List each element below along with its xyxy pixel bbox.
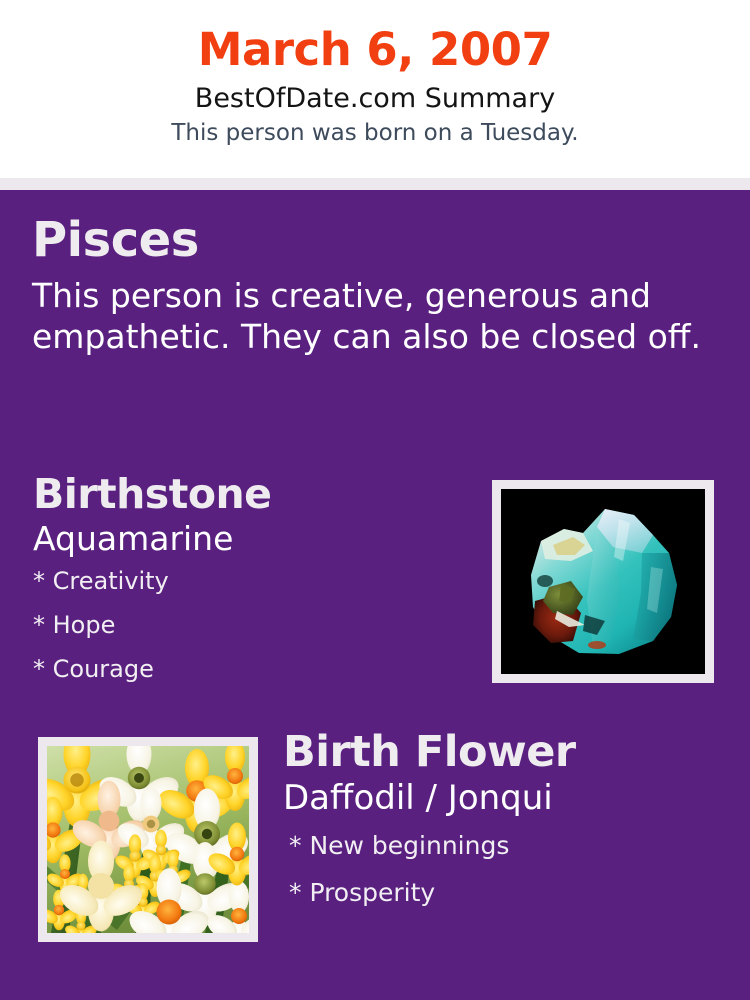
list-item: * Prosperity <box>289 880 723 905</box>
list-item: * New beginnings <box>289 833 723 858</box>
birthstone-name: Aquamarine <box>33 519 473 559</box>
content-panel: Pisces This person is creative, generous… <box>0 190 750 1000</box>
page-title-date: March 6, 2007 <box>198 24 553 76</box>
birthflower-heading: Birth Flower <box>283 730 723 775</box>
zodiac-description: This person is creative, generous and em… <box>32 276 712 358</box>
birthstone-section: Birthstone Aquamarine * Creativity * Hop… <box>33 473 473 701</box>
birthflower-name: Daffodil / Jonqui <box>283 778 723 819</box>
list-item: * Courage <box>33 657 473 681</box>
birthstone-image <box>501 489 705 674</box>
zodiac-section: Pisces This person is creative, generous… <box>32 216 722 358</box>
header: March 6, 2007 BestOfDate.com Summary Thi… <box>0 0 750 178</box>
header-subtitle: This person was born on a Tuesday. <box>171 119 578 148</box>
birthstone-trait-list: * Creativity * Hope * Courage <box>33 569 473 681</box>
header-divider <box>0 178 750 190</box>
summary-card: March 6, 2007 BestOfDate.com Summary Thi… <box>0 0 750 1000</box>
birthstone-heading: Birthstone <box>33 473 473 516</box>
site-name: BestOfDate.com Summary <box>195 82 555 116</box>
zodiac-sign-name: Pisces <box>32 216 722 264</box>
birthflower-section: Birth Flower Daffodil / Jonqui * New beg… <box>283 730 723 927</box>
list-item: * Hope <box>33 613 473 637</box>
birthstone-image-frame <box>492 480 714 683</box>
aquamarine-crystal-icon <box>501 489 705 674</box>
birthflower-trait-list: * New beginnings * Prosperity <box>289 833 723 905</box>
birthflower-image <box>47 746 249 933</box>
list-item: * Creativity <box>33 569 473 593</box>
birthflower-image-frame <box>38 737 258 942</box>
daffodil-flowers-icon <box>47 746 249 933</box>
